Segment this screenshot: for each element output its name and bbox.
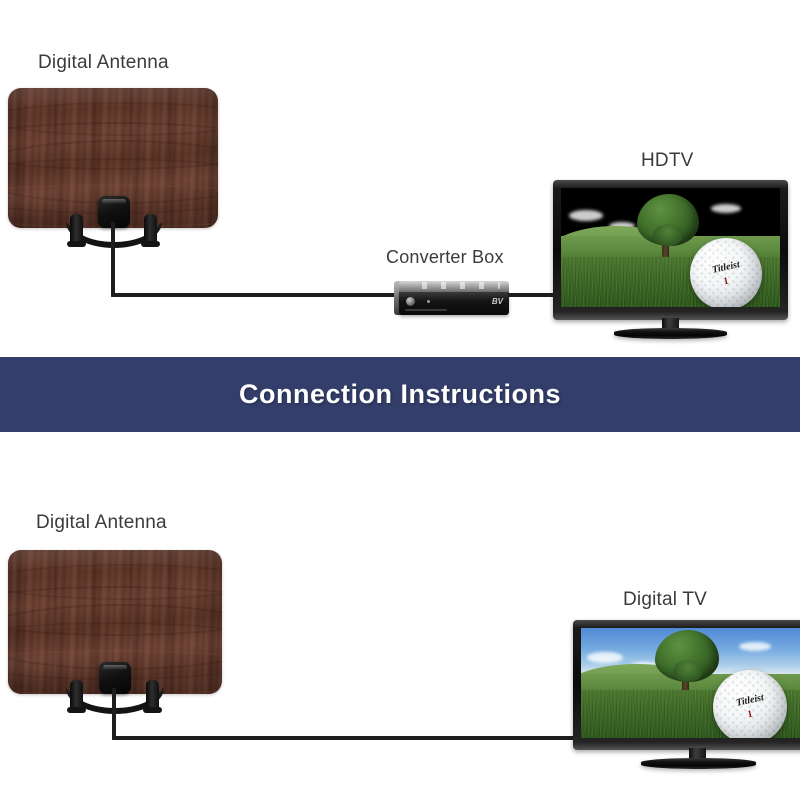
bottom-antenna-label: Digital Antenna [36, 512, 167, 534]
digital-tv: Titleist 1 [573, 620, 800, 750]
screen-cloud [587, 652, 623, 663]
screen-golf-ball: Titleist 1 [690, 238, 762, 307]
bottom-antenna-foot-left [70, 680, 83, 710]
top-converter-label: Converter Box [386, 247, 504, 268]
screen-golf-ball: Titleist 1 [713, 670, 787, 738]
converter-led-indicator [427, 300, 430, 303]
top-cable-converter-to-tv [508, 293, 556, 297]
converter-brand-badge: BV [492, 297, 503, 306]
bottom-cable-horizontal [112, 736, 577, 740]
converter-top-panel [399, 281, 509, 292]
top-antenna-label: Digital Antenna [38, 52, 169, 74]
hdtv-screen: Titleist 1 [561, 188, 780, 307]
screen-cloud [739, 642, 771, 651]
screen-cloud [569, 210, 603, 221]
connection-instructions-banner: Connection Instructions [0, 357, 800, 432]
screen-tree-lower [673, 660, 703, 682]
connection-instructions-diagram: Digital Antenna Converter Box [0, 0, 800, 800]
bottom-cable-vertical [112, 688, 116, 740]
digital-tv-stand-base [641, 758, 756, 769]
screen-cloud [711, 204, 741, 213]
top-tv-label: HDTV [641, 150, 694, 172]
top-antenna-foot-left [70, 214, 83, 244]
converter-front-face: BV [399, 292, 509, 315]
screen-tree-lower [653, 224, 683, 246]
digital-tv-screen: Titleist 1 [581, 628, 800, 738]
bottom-tv-label: Digital TV [623, 589, 707, 611]
converter-power-button[interactable] [406, 297, 415, 306]
top-cable-horizontal [111, 293, 401, 297]
hdtv-stand-base [614, 328, 727, 339]
bottom-antenna-foot-right [146, 680, 159, 710]
banner-title: Connection Instructions [239, 379, 561, 410]
top-antenna-foot-right [144, 214, 157, 244]
hdtv: Titleist 1 [553, 180, 788, 320]
top-cable-vertical [111, 222, 115, 297]
converter-front-strip [405, 309, 447, 311]
converter-box: BV [399, 281, 509, 315]
